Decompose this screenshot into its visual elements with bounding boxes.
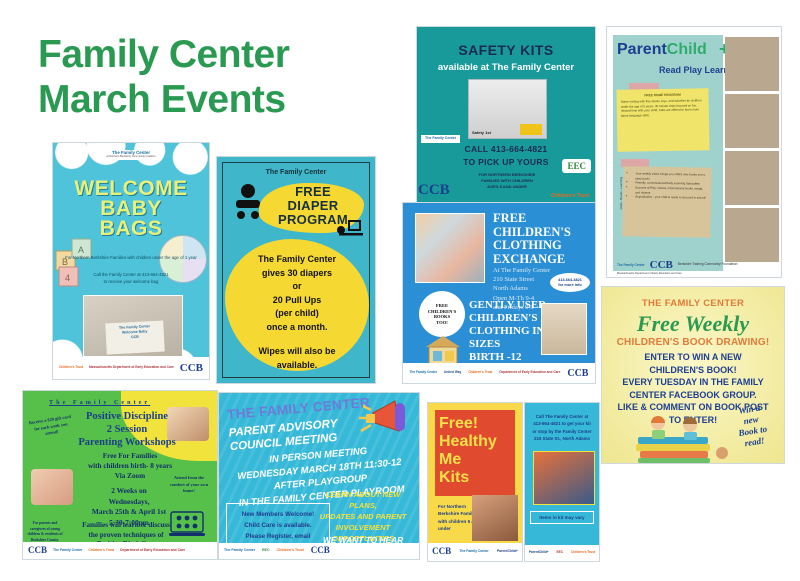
pd-kids-photo: [31, 469, 73, 505]
family-center-logo: The Family Center: [409, 371, 437, 375]
pd-when-line2: Wednesdays,: [71, 497, 187, 508]
eec-dept-logo: Massachusetts Department of Early Educat…: [617, 272, 682, 275]
diaper-body-line5: (per child): [231, 307, 363, 321]
eec-logo: EEC: [562, 159, 591, 173]
logo-parent: Parent: [617, 41, 667, 58]
clothing-heading-line2: CHILDREN'S: [493, 226, 571, 240]
changing-table-icon: [335, 215, 365, 237]
book-body-line4: CENTER FACEBOOK GROUP.: [608, 389, 778, 402]
baby-bag-photo: The Family Center Welcome Baby CCB: [83, 295, 183, 357]
family-center-logo: The Family Center: [224, 549, 255, 553]
flyer-healthy-me-kits[interactable]: Free! Healthy Me Kits For Northern Berks…: [427, 402, 523, 562]
clothing-address-line2: 210 State Street: [493, 275, 550, 284]
hm-heading-line3: Me: [439, 451, 497, 469]
clothing-badge-label: for more info: [558, 283, 581, 288]
flyer-healthy-me-kit-details[interactable]: Call The Family Center at 413-664-4821 t…: [524, 402, 600, 562]
berkshire-foundation-logo: Berkshire Training Community Foundation: [678, 263, 738, 267]
book-body-line1: ENTER TO WIN A NEW: [608, 351, 778, 364]
kit-call-info: Call The Family Center at 413-664-4821 t…: [529, 413, 595, 443]
safety-subheading: available at The Family Center: [417, 62, 595, 73]
family-center-logo-sub: at Northern Berkshire Community Coalitio…: [106, 156, 155, 159]
baby-call-line2: to receive your welcome bag: [57, 279, 205, 286]
pd-heading: Positive Discipline 2 Session Parenting …: [67, 410, 187, 449]
page-title: Family Center March Events: [38, 32, 289, 122]
pcplus-photo-4: [725, 208, 779, 262]
kit-call-line2: 413-664-4821 to get your kit: [529, 420, 595, 427]
diaper-heading-line1: FREE: [261, 185, 365, 199]
clothing-address-line3: North Adams: [493, 284, 550, 293]
pcplus-photo-3: [725, 151, 779, 205]
childrens-trust-logo: Children's Trust: [88, 549, 114, 553]
book-subtitle: CHILDREN'S BOOK DRAWING!: [602, 337, 784, 348]
pac-box-line1: New Members Welcome!: [230, 509, 326, 520]
safety-fine-line3: AGES 5 AND UNDER: [461, 184, 553, 190]
safety-call: CALL 413-664-4821: [417, 144, 595, 154]
pd-logo-bar: CCB The Family Center Children's Trust D…: [23, 542, 217, 559]
eec-dept-logo: Department of Early Education and Care: [499, 371, 560, 375]
kit-call-line4: 210 State St., North Adams: [529, 435, 595, 442]
free-books-badge: FREE CHILDREN'S BOOKS TOO!: [419, 291, 465, 337]
safety-kit-photo: Safety 1st: [468, 79, 547, 139]
hm-heading-line2: Healthy: [439, 433, 497, 451]
eec-dept-logo: Department of Early Education and Care: [120, 549, 185, 553]
pcplus-bullet-list: Your weekly visitor brings you child's o…: [628, 171, 706, 200]
baby-heading: WELCOME BABY BAGS: [53, 179, 209, 239]
book-script-heading: Free Weekly: [602, 311, 784, 337]
family-center-logo: The Family Center: [53, 549, 82, 553]
flyer-free-diaper-program[interactable]: The Family Center FREE DIAPER PROGRAM Th…: [216, 156, 376, 384]
eec-logo: EEC: [262, 549, 269, 553]
clothing-rack-photo: [541, 303, 587, 355]
pd-heading-line1: Positive Discipline: [67, 410, 187, 423]
pcplus-logo-bar: The Family Center CCB Berkshire Training…: [617, 259, 737, 271]
pcplus-note-body: Home visiting with free books, toys, and…: [621, 98, 705, 118]
flyer-positive-discipline[interactable]: The Family Center Receive a $20 gift car…: [22, 390, 218, 560]
eec-logo: EEC: [557, 551, 564, 555]
pcplus-photo-2: [725, 94, 779, 148]
svg-text:A: A: [78, 245, 84, 255]
clothing-heading-line1: FREE: [493, 212, 571, 226]
flyer-collage-page: Family Center March Events The Family Ce…: [0, 0, 800, 581]
kit-contents-photo: [533, 451, 595, 505]
ccb-logo: CCB: [311, 546, 330, 556]
pd-when-line1: 2 Weeks on: [71, 486, 187, 497]
kit-disclaimer: Items in kit may vary: [530, 511, 594, 524]
pcplus-note-title: FREE HOME PROGRAM: [621, 92, 705, 97]
ccb-logo: CCB: [418, 182, 450, 199]
page-title-line2: March Events: [38, 77, 289, 122]
pcplus-yellow-note: FREE HOME PROGRAM Home visiting with fre…: [616, 88, 709, 152]
childrens-trust-logo: Children's Trust: [59, 366, 83, 370]
diaper-body-line7: Wipes will also be: [231, 345, 363, 359]
kit-call-line1: Call The Family Center at: [529, 413, 595, 420]
gently-line1: GENTLY USED: [469, 299, 546, 312]
safety-fine-print: FOR NORTHERN BERKSHIRE FAMILIES WITH CHI…: [461, 172, 553, 190]
parentchild-logo: ParentChild+: [529, 551, 549, 555]
flyer-free-weekly-book-drawing[interactable]: THE FAMILY CENTER Free Weekly CHILDREN'S…: [601, 286, 785, 464]
eec-dept-logo: Massachusetts Department of Early Educat…: [89, 366, 174, 370]
book-body-line3: EVERY TUESDAY IN THE FAMILY: [608, 376, 778, 389]
pcplus-photo-1: [725, 37, 779, 91]
flyer-welcome-baby-bags[interactable]: The Family Center at Northern Berkshire …: [52, 142, 210, 380]
childrens-trust-logo: Children's Trust: [571, 551, 595, 555]
hm-heading-line1: Free!: [439, 415, 497, 433]
flyer-safety-kits[interactable]: SAFETY KITS available at The Family Cent…: [416, 26, 596, 204]
safety-photo-accent: [520, 124, 542, 135]
ccb-logo: CCB: [180, 362, 203, 374]
childrens-trust-logo: Children's Trust: [551, 193, 589, 199]
clothing-heading-line3: CLOTHING: [493, 239, 571, 253]
diaper-heading-line2: DIAPER: [261, 199, 365, 213]
hm-child-photo: [472, 495, 518, 541]
clothing-pile-photo: [415, 213, 485, 283]
safety-heading: SAFETY KITS: [417, 42, 595, 58]
children-reading-books-illustration: [632, 407, 742, 463]
ccb-logo: CCB: [28, 546, 47, 556]
gently-line3: CLOTHING IN: [469, 325, 546, 338]
books-badge-line4: TOO!: [428, 320, 457, 326]
childrens-trust-logo: Children's Trust: [468, 371, 492, 375]
kit-call-line3: or stop by the Family Center: [529, 428, 595, 435]
pac-box-line2: Child Care is available.: [230, 520, 326, 531]
diaper-body-line4: 20 Pull Ups: [231, 294, 363, 308]
hm-heading: Free! Healthy Me Kits: [439, 415, 497, 487]
gently-line2: CHILDREN'S: [469, 312, 546, 325]
diaper-body-line2: gives 30 diapers: [231, 267, 363, 281]
book-body-line2: CHILDREN'S BOOK!: [608, 364, 778, 377]
kit-logo-bar: ParentChild+ EEC Children's Trust: [525, 545, 599, 561]
baby-heading-line3: BAGS: [53, 219, 209, 239]
ccb-logo: CCB: [567, 368, 588, 379]
family-center-logo: The Family Center: [459, 550, 488, 554]
pcplus-photo-column: [725, 37, 779, 262]
baby-eligibility: For Northern Berkshire Families with chi…: [57, 255, 205, 261]
pcplus-side-text: Visits - Books - Learning: [619, 177, 623, 209]
pd-learn-line2: the proven techniques of: [61, 531, 191, 541]
diaper-body: The Family Center gives 30 diapers or 20…: [231, 253, 363, 372]
gently-line4: SIZES: [469, 338, 546, 351]
diaper-body-line1: The Family Center: [231, 253, 363, 267]
pd-org: The Family Center: [49, 399, 150, 406]
pd-heading-line3: Parenting Workshops: [67, 436, 187, 449]
hm-heading-line4: Kits: [439, 469, 497, 487]
diaper-body-line3: or: [231, 280, 363, 294]
book-org: THE FAMILY CENTER: [602, 298, 784, 309]
ccb-logo: CCB: [650, 259, 673, 271]
parentchild-logo: ParentChild+: [497, 550, 518, 554]
flyer-parentchild-plus[interactable]: ParentChild + Read Play Learn FREE HOME …: [606, 26, 782, 278]
logo-child: Child: [667, 41, 707, 58]
diaper-org: The Family Center: [217, 169, 375, 176]
pd-free-line1: Free For Families: [75, 451, 185, 461]
parentchild-logo: ParentChild: [617, 41, 707, 59]
pac-logo-bar: The Family Center EEC Children's Trust C…: [219, 543, 419, 559]
baby-bag-photo-tag: The Family Center Welcome Baby CCB: [105, 321, 165, 355]
baby-call-line1: Call the Family Center at 413-664-4821: [57, 272, 205, 279]
clothing-address-line1: At The Family Center: [493, 266, 550, 275]
clothing-sizes-text: GENTLY USED CHILDREN'S CLOTHING IN SIZES…: [469, 299, 546, 364]
family-center-logo: The Family Center at Northern Berkshire …: [101, 150, 160, 160]
united-way-logo: United Way: [444, 371, 461, 375]
pcplus-bullet-4: At graduation - your child is ready to s…: [635, 195, 706, 201]
baby-heading-line2: BABY: [53, 199, 209, 219]
clothing-logo-bar: The Family Center United Way Children's …: [403, 363, 595, 383]
safety-product-brand: Safety 1st: [472, 130, 491, 135]
pd-free-line2: with children birth- 8 years: [75, 461, 185, 471]
pd-learn-line1: Families will learn & discuss: [61, 521, 191, 531]
ccb-logo: CCB: [432, 547, 451, 557]
family-center-badge: The Family Center: [421, 135, 460, 143]
clothing-heading-line4: EXCHANGE: [493, 253, 571, 267]
clothing-phone-badge: 413-664-4821 for more info: [550, 273, 590, 292]
diaper-body-line8: available.: [231, 359, 363, 373]
pd-heading-line2: 2 Session: [67, 423, 187, 436]
pd-audience-badge: For parents and caregivers of young chil…: [26, 521, 64, 543]
hm-logo-bar: CCB The Family Center ParentChild+: [428, 543, 522, 561]
clothing-heading: FREE CHILDREN'S CLOTHING EXCHANGE: [493, 212, 571, 266]
page-title-line1: Family Center: [38, 33, 289, 76]
flyer-parent-advisory-council[interactable]: THE FAMILY CENTER PARENT ADVISORY COUNCI…: [218, 392, 420, 560]
diaper-body-line6: once a month.: [231, 321, 363, 335]
pcplus-tan-note: Your weekly visitor brings you child's o…: [622, 166, 711, 238]
baby-heading-line1: WELCOME: [53, 179, 209, 199]
childrens-trust-logo: Children's Trust: [277, 549, 304, 553]
flyer-clothing-exchange[interactable]: FREE CHILDREN'S CLOTHING EXCHANGE At The…: [402, 202, 596, 384]
family-center-logo: The Family Center: [617, 263, 645, 267]
baby-call-info: Call the Family Center at 413-664-4821 t…: [57, 272, 205, 286]
baby-logo-bar: Children's Trust Massachusetts Departmen…: [53, 357, 209, 379]
